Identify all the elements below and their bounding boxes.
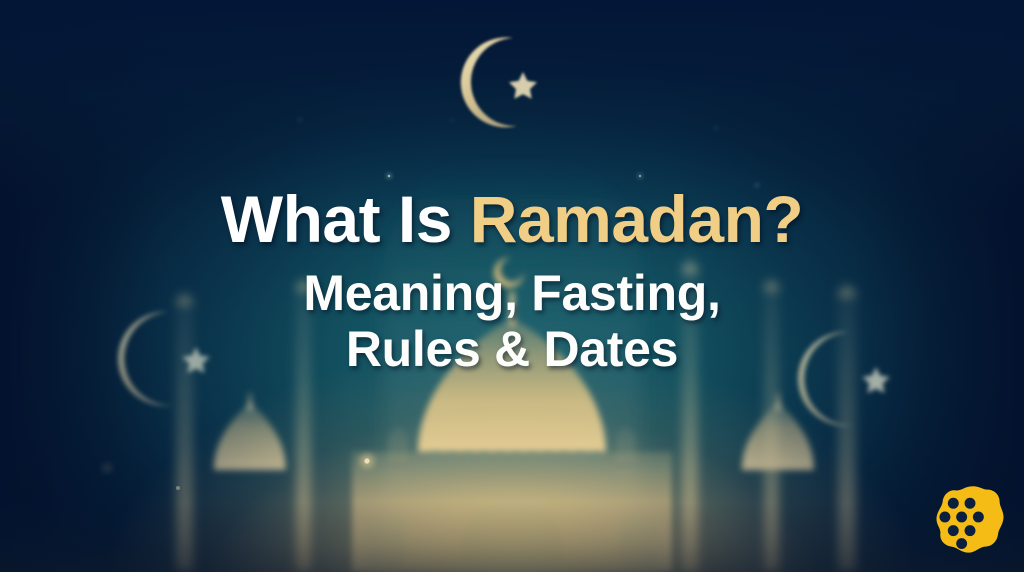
headline-plain: What Is	[221, 182, 470, 256]
page-subtitle: Meaning, Fasting, Rules & Dates	[0, 265, 1024, 377]
subtitle-line-1: Meaning, Fasting,	[0, 265, 1024, 321]
ramadan-hero-banner: What Is Ramadan? Meaning, Fasting, Rules…	[0, 0, 1024, 572]
hero-text-block: What Is Ramadan? Meaning, Fasting, Rules…	[0, 186, 1024, 377]
subtitle-line-2: Rules & Dates	[0, 321, 1024, 377]
page-title: What Is Ramadan?	[0, 186, 1024, 253]
star-icon-top	[509, 72, 537, 99]
honeycomb-cluster-logo[interactable]	[932, 482, 1008, 558]
crescent-moon-icon-top	[461, 37, 517, 127]
headline-accent: Ramadan?	[470, 182, 803, 256]
ambient-stars	[299, 119, 759, 187]
